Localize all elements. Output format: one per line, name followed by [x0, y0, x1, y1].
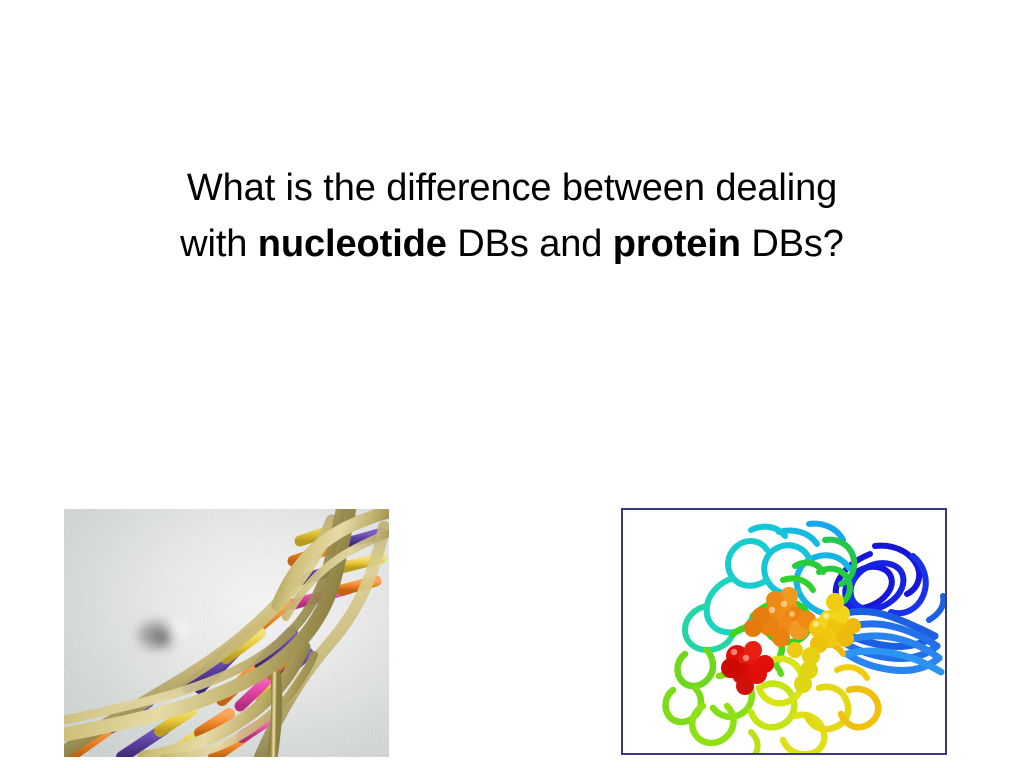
dna-backbone-lower-right	[272, 677, 277, 757]
title-line-2-segment-2: DBs and	[447, 223, 613, 265]
title-line-2-segment-3: DBs?	[741, 223, 844, 265]
page-title: What is the difference between dealing w…	[62, 160, 962, 272]
protein-ribbon-structure-image	[621, 508, 947, 755]
title-keyword-protein: protein	[613, 223, 741, 265]
title-line-2-segment-1: with	[180, 223, 258, 265]
slide-canvas: What is the difference between dealing w…	[0, 0, 1024, 768]
title-line-2: with nucleotide DBs and protein DBs?	[62, 216, 962, 272]
dna-double-helix-image	[64, 509, 389, 757]
dna-illustration-svg	[64, 509, 389, 757]
protein-illustration-svg	[623, 510, 945, 753]
title-keyword-nucleotide: nucleotide	[258, 223, 447, 265]
title-line-1: What is the difference between dealing	[62, 160, 962, 216]
